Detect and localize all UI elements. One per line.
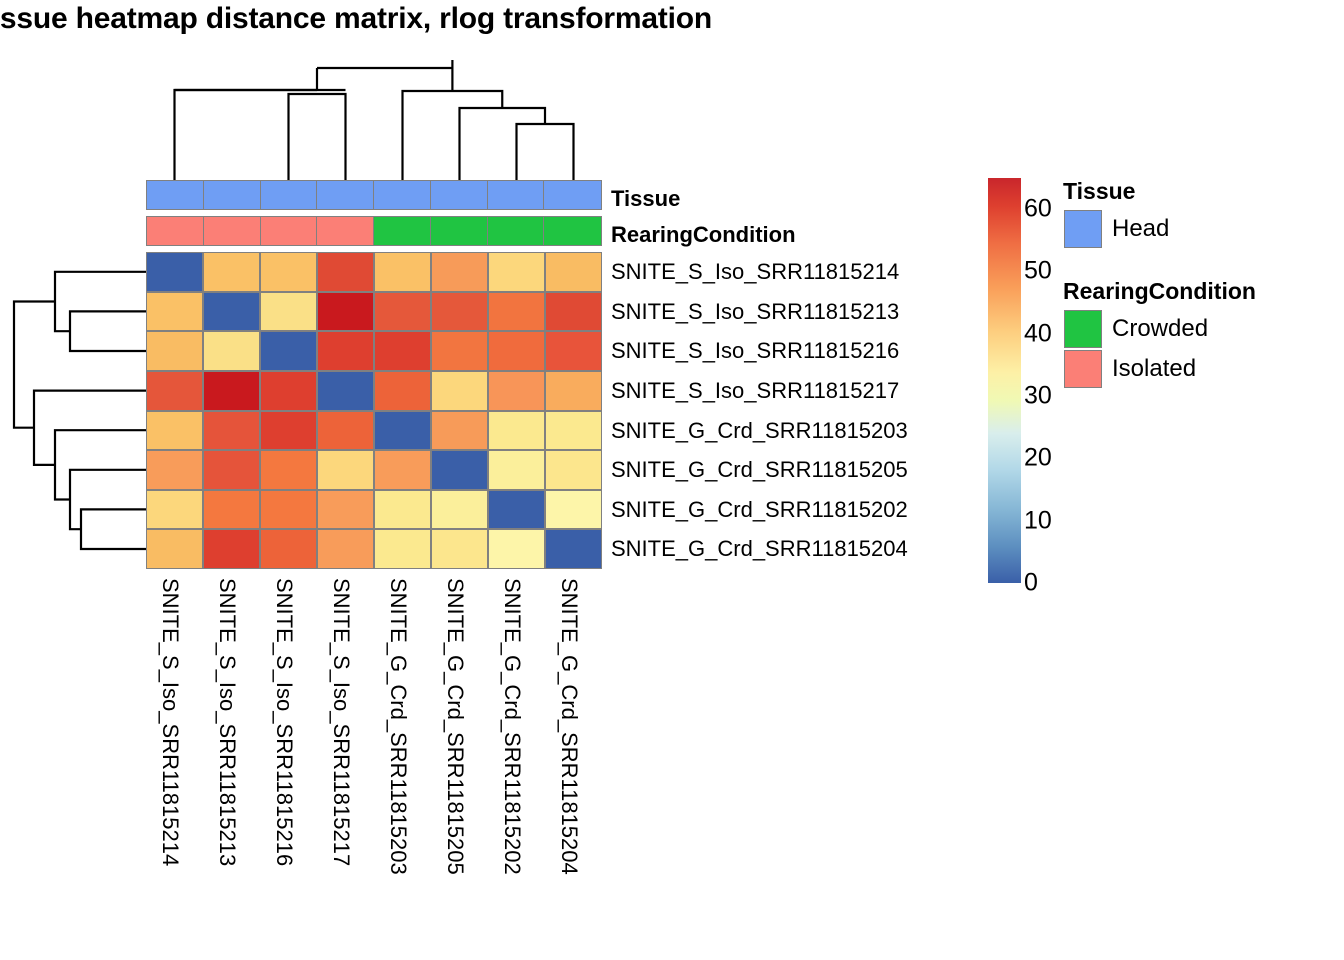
heatmap-cell: [203, 529, 260, 569]
heatmap-cell: [488, 490, 545, 530]
heatmap-cell: [488, 450, 545, 490]
heatmap-cell: [317, 252, 374, 292]
heatmap-cell: [545, 252, 602, 292]
heatmap-cell: [146, 450, 203, 490]
heatmap-cell: [317, 292, 374, 332]
row-label: SNITE_S_Iso_SRR11815213: [611, 292, 899, 332]
annotation-cell: [147, 181, 204, 209]
annotation-cell: [544, 217, 601, 245]
column-label: SNITE_G_Crd_SRR11815203: [385, 578, 411, 875]
heatmap-cell: [488, 529, 545, 569]
heatmap-cell: [545, 411, 602, 451]
heatmap-cell: [203, 411, 260, 451]
heatmap-cell: [317, 529, 374, 569]
annotation-cell: [147, 217, 204, 245]
heatmap-cell: [374, 292, 431, 332]
column-label: SNITE_G_Crd_SRR11815205: [442, 578, 468, 875]
colorbar-tick-label: 30: [1024, 382, 1052, 411]
legend-item-label: Crowded: [1112, 310, 1208, 348]
annotation-cell: [261, 181, 318, 209]
annotation-cell: [204, 217, 261, 245]
column-label: SNITE_S_Iso_SRR11815216: [271, 578, 297, 866]
heatmap-cell: [146, 529, 203, 569]
annotation-cell: [261, 217, 318, 245]
heatmap-cell: [146, 411, 203, 451]
annotation-cell: [317, 181, 374, 209]
column-label: SNITE_S_Iso_SRR11815213: [214, 578, 240, 866]
heatmap-cell: [260, 371, 317, 411]
row-label: SNITE_S_Iso_SRR11815214: [611, 252, 899, 292]
annotation-cell: [374, 181, 431, 209]
heatmap-cell: [317, 411, 374, 451]
heatmap-cell: [146, 252, 203, 292]
heatmap-cell: [545, 292, 602, 332]
heatmap-cell: [488, 292, 545, 332]
heatmap-cell: [203, 252, 260, 292]
annotation-cell: [488, 181, 545, 209]
heatmap-cell: [146, 490, 203, 530]
row-label: SNITE_G_Crd_SRR11815204: [611, 529, 908, 569]
heatmap-cell: [545, 490, 602, 530]
heatmap-cell: [374, 371, 431, 411]
heatmap-cell: [431, 450, 488, 490]
heatmap-cell: [146, 331, 203, 371]
row-label: SNITE_G_Crd_SRR11815205: [611, 450, 908, 490]
colorbar-tick-label: 50: [1024, 257, 1052, 286]
heatmap-cell: [260, 529, 317, 569]
annotation-cell: [488, 217, 545, 245]
heatmap-cell: [146, 292, 203, 332]
column-label: SNITE_G_Crd_SRR11815202: [499, 578, 525, 875]
heatmap-cell: [317, 371, 374, 411]
heatmap-cell: [374, 331, 431, 371]
heatmap-cell: [545, 450, 602, 490]
heatmap-cell: [260, 331, 317, 371]
heatmap-cell: [317, 331, 374, 371]
annotation-bar-rearingcondition: [146, 216, 602, 246]
heatmap-cell: [203, 371, 260, 411]
legend-title: RearingCondition: [1063, 278, 1256, 305]
heatmap-cell: [203, 450, 260, 490]
column-label: SNITE_G_Crd_SRR11815204: [556, 578, 582, 875]
heatmap-cell: [374, 411, 431, 451]
colorbar-gradient: [988, 178, 1021, 583]
heatmap-cell: [203, 490, 260, 530]
heatmap-figure: tissue heatmap distance matrix, rlog tra…: [0, 0, 1344, 960]
heatmap-cell: [374, 450, 431, 490]
heatmap-cell: [431, 529, 488, 569]
heatmap-cell: [488, 371, 545, 411]
heatmap-cell: [260, 450, 317, 490]
column-label: SNITE_S_Iso_SRR11815217: [328, 578, 354, 866]
legend-item-label: Head: [1112, 210, 1169, 248]
row-label: SNITE_S_Iso_SRR11815216: [611, 331, 899, 371]
heatmap-cell: [431, 411, 488, 451]
heatmap-cell: [374, 529, 431, 569]
heatmap-cell: [545, 371, 602, 411]
annotation-cell: [431, 217, 488, 245]
row-label: SNITE_G_Crd_SRR11815203: [611, 411, 908, 451]
page-title: tissue heatmap distance matrix, rlog tra…: [0, 2, 982, 36]
legend-swatch[interactable]: [1064, 310, 1102, 348]
colorbar-tick-label: 10: [1024, 506, 1052, 535]
annotation-cell: [374, 217, 431, 245]
heatmap-cell: [260, 411, 317, 451]
heatmap-cell: [545, 331, 602, 371]
legend-swatch[interactable]: [1064, 350, 1102, 388]
annotation-cell: [431, 181, 488, 209]
annotation-label-rearingcondition: RearingCondition: [611, 222, 796, 248]
heatmap-cell: [431, 490, 488, 530]
legend-swatch[interactable]: [1064, 210, 1102, 248]
heatmap-cell: [488, 331, 545, 371]
row-label: SNITE_S_Iso_SRR11815217: [611, 371, 899, 411]
heatmap-cell: [545, 529, 602, 569]
heatmap-grid: [146, 252, 602, 569]
heatmap-cell: [317, 490, 374, 530]
heatmap-cell: [260, 252, 317, 292]
colorbar-tick-label: 0: [1024, 569, 1038, 598]
column-label: SNITE_S_Iso_SRR11815214: [157, 578, 183, 866]
row-dendrogram: [8, 252, 146, 569]
heatmap-cell: [431, 252, 488, 292]
heatmap-cell: [431, 292, 488, 332]
heatmap-cell: [203, 331, 260, 371]
colorbar-tick-label: 40: [1024, 319, 1052, 348]
heatmap-cell: [260, 292, 317, 332]
heatmap-cell: [260, 490, 317, 530]
heatmap-cell: [317, 450, 374, 490]
annotation-cell: [204, 181, 261, 209]
colorbar-tick-label: 60: [1024, 195, 1052, 224]
annotation-cell: [544, 181, 601, 209]
heatmap-cell: [431, 331, 488, 371]
heatmap-cell: [488, 411, 545, 451]
heatmap-cell: [374, 490, 431, 530]
heatmap-cell: [203, 292, 260, 332]
annotation-bar-tissue: [146, 180, 602, 210]
heatmap-cell: [431, 371, 488, 411]
legend-item-label: Isolated: [1112, 350, 1196, 388]
annotation-cell: [317, 217, 374, 245]
legend-title: Tissue: [1063, 178, 1135, 205]
annotation-label-tissue: Tissue: [611, 186, 680, 212]
column-dendrogram: [146, 56, 602, 180]
heatmap-cell: [146, 371, 203, 411]
heatmap-cell: [374, 252, 431, 292]
heatmap-cell: [488, 252, 545, 292]
colorbar-tick-label: 20: [1024, 444, 1052, 473]
row-label: SNITE_G_Crd_SRR11815202: [611, 490, 908, 530]
